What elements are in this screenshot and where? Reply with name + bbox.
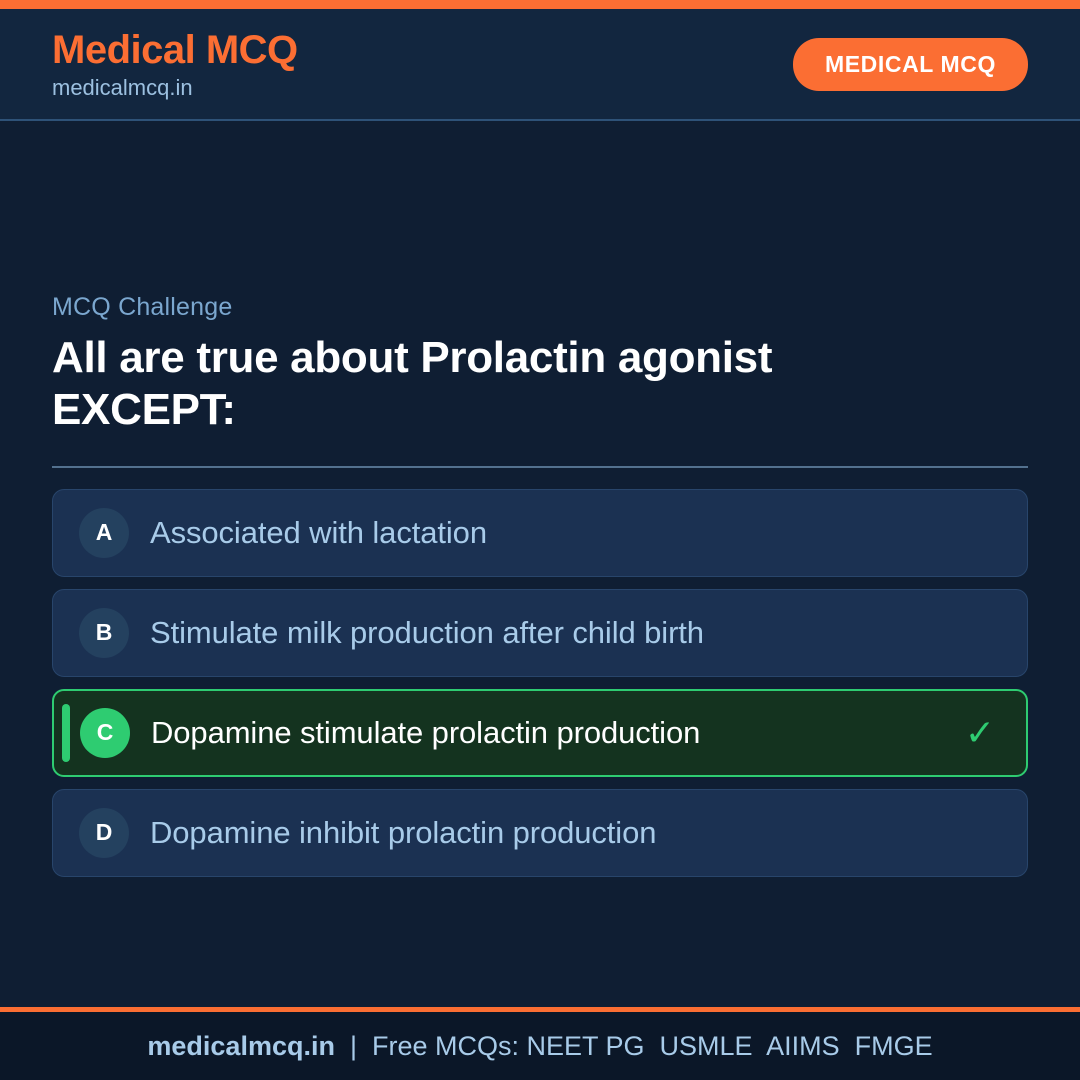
option-c[interactable]: C Dopamine stimulate prolactin productio… — [52, 689, 1028, 777]
footer-site: medicalmcq.in — [147, 1031, 335, 1062]
header-badge: MEDICAL MCQ — [793, 38, 1028, 91]
option-letter-badge: A — [79, 508, 129, 558]
option-letter-badge: B — [79, 608, 129, 658]
option-letter-badge: C — [80, 708, 130, 758]
option-b[interactable]: B Stimulate milk production after child … — [52, 589, 1028, 677]
option-d[interactable]: D Dopamine inhibit prolactin production … — [52, 789, 1028, 877]
page-title: All are true about Prolactin agonist EXC… — [52, 332, 882, 436]
option-a[interactable]: A Associated with lactation ✓ — [52, 489, 1028, 577]
eyebrow-label: MCQ Challenge — [52, 293, 1028, 322]
brand-title: Medical MCQ — [52, 30, 298, 70]
option-label: Dopamine inhibit prolactin production — [150, 815, 961, 851]
page-header: Medical MCQ medicalmcq.in MEDICAL MCQ — [0, 9, 1080, 121]
footer-separator: | — [335, 1031, 372, 1062]
question-block: MCQ Challenge All are true about Prolact… — [52, 293, 1028, 436]
option-label: Dopamine stimulate prolactin production — [151, 715, 960, 751]
top-accent-stripe — [0, 0, 1080, 9]
brand: Medical MCQ medicalmcq.in — [52, 30, 298, 99]
check-icon: ✓ — [960, 715, 1000, 751]
option-letter-badge: D — [79, 808, 129, 858]
question-divider — [52, 466, 1028, 468]
content-area: MCQ Challenge All are true about Prolact… — [0, 121, 1080, 1007]
footer-tagline: Free MCQs: NEET PG USMLE AIIMS FMGE — [372, 1031, 933, 1062]
correct-accent-bar — [62, 704, 70, 762]
brand-subtitle: medicalmcq.in — [52, 77, 298, 99]
page-footer: medicalmcq.in | Free MCQs: NEET PG USMLE… — [0, 1012, 1080, 1080]
option-label: Associated with lactation — [150, 515, 961, 551]
option-label: Stimulate milk production after child bi… — [150, 615, 961, 651]
options-list: A Associated with lactation ✓ B Stimulat… — [52, 489, 1028, 877]
mcq-card: Medical MCQ medicalmcq.in MEDICAL MCQ MC… — [0, 0, 1080, 1080]
